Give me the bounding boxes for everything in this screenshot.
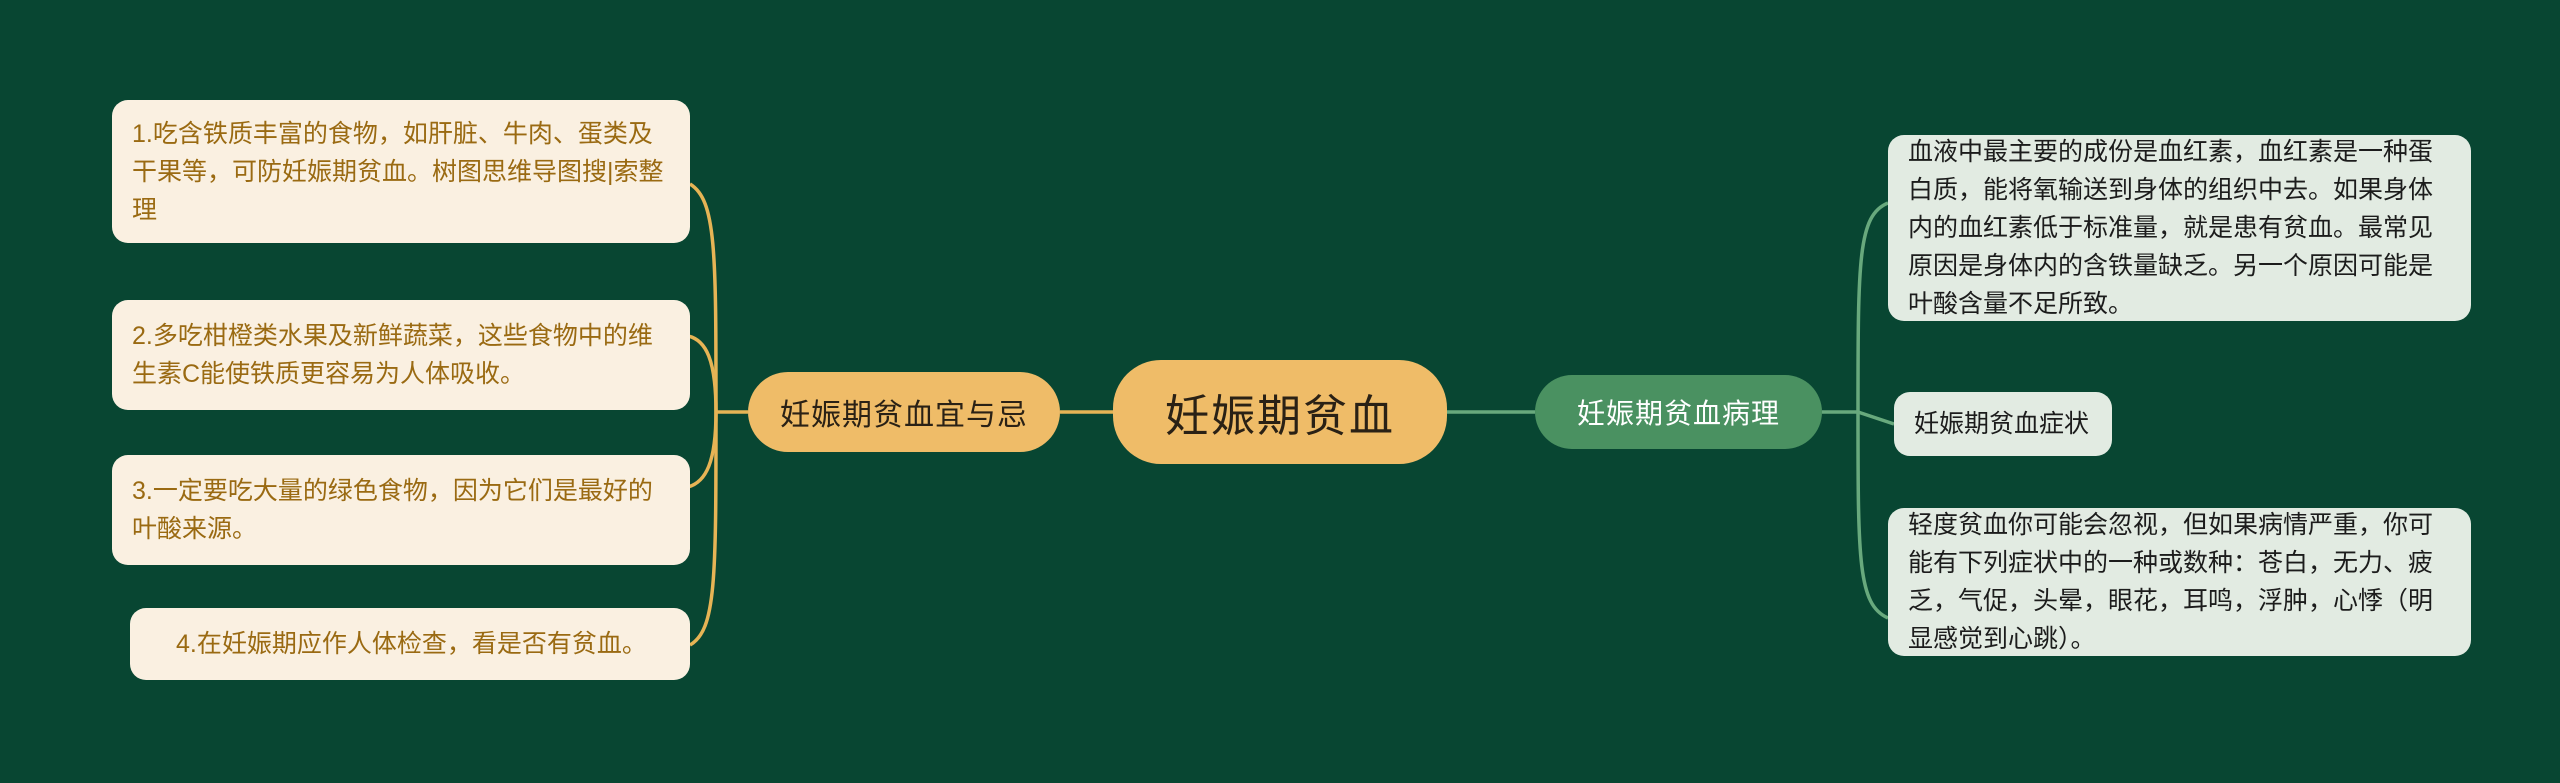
leaf-text: 妊娠期贫血症状 — [1914, 405, 2092, 443]
root-node[interactable]: 妊娠期贫血 — [1113, 360, 1447, 464]
list-item[interactable]: 1.吃含铁质丰富的食物，如肝脏、牛肉、蛋类及干果等，可防妊娠期贫血。树图思维导图… — [112, 100, 690, 243]
leaf-text: 4.在妊娠期应作人体检查，看是否有贫血。 — [150, 625, 670, 663]
leaf-text: 轻度贫血你可能会忽视，但如果病情严重，你可能有下列症状中的一种或数种：苍白，无力… — [1908, 506, 2451, 658]
branch-label: 妊娠期贫血病理 — [1577, 392, 1780, 432]
list-item[interactable]: 3.一定要吃大量的绿色食物，因为它们是最好的叶酸来源。 — [112, 455, 690, 565]
leaf-text: 3.一定要吃大量的绿色食物，因为它们是最好的叶酸来源。 — [132, 472, 670, 548]
branch-label: 妊娠期贫血宜与忌 — [780, 390, 1028, 434]
branch-node-right[interactable]: 妊娠期贫血病理 — [1535, 375, 1822, 449]
list-item[interactable]: 轻度贫血你可能会忽视，但如果病情严重，你可能有下列症状中的一种或数种：苍白，无力… — [1888, 508, 2471, 656]
leaf-text: 1.吃含铁质丰富的食物，如肝脏、牛肉、蛋类及干果等，可防妊娠期贫血。树图思维导图… — [132, 115, 670, 229]
branch-node-left[interactable]: 妊娠期贫血宜与忌 — [748, 372, 1060, 452]
mindmap-canvas: 1.吃含铁质丰富的食物，如肝脏、牛肉、蛋类及干果等，可防妊娠期贫血。树图思维导图… — [0, 0, 2560, 783]
list-item[interactable]: 4.在妊娠期应作人体检查，看是否有贫血。 — [130, 608, 690, 680]
list-item[interactable]: 妊娠期贫血症状 — [1894, 392, 2112, 456]
leaf-text: 血液中最主要的成份是血红素，血红素是一种蛋白质，能将氧输送到身体的组织中去。如果… — [1908, 133, 2451, 323]
root-label: 妊娠期贫血 — [1165, 380, 1395, 444]
list-item[interactable]: 血液中最主要的成份是血红素，血红素是一种蛋白质，能将氧输送到身体的组织中去。如果… — [1888, 135, 2471, 321]
leaf-text: 2.多吃柑橙类水果及新鲜蔬菜，这些食物中的维生素C能使铁质更容易为人体吸收。 — [132, 317, 670, 393]
list-item[interactable]: 2.多吃柑橙类水果及新鲜蔬菜，这些食物中的维生素C能使铁质更容易为人体吸收。 — [112, 300, 690, 410]
